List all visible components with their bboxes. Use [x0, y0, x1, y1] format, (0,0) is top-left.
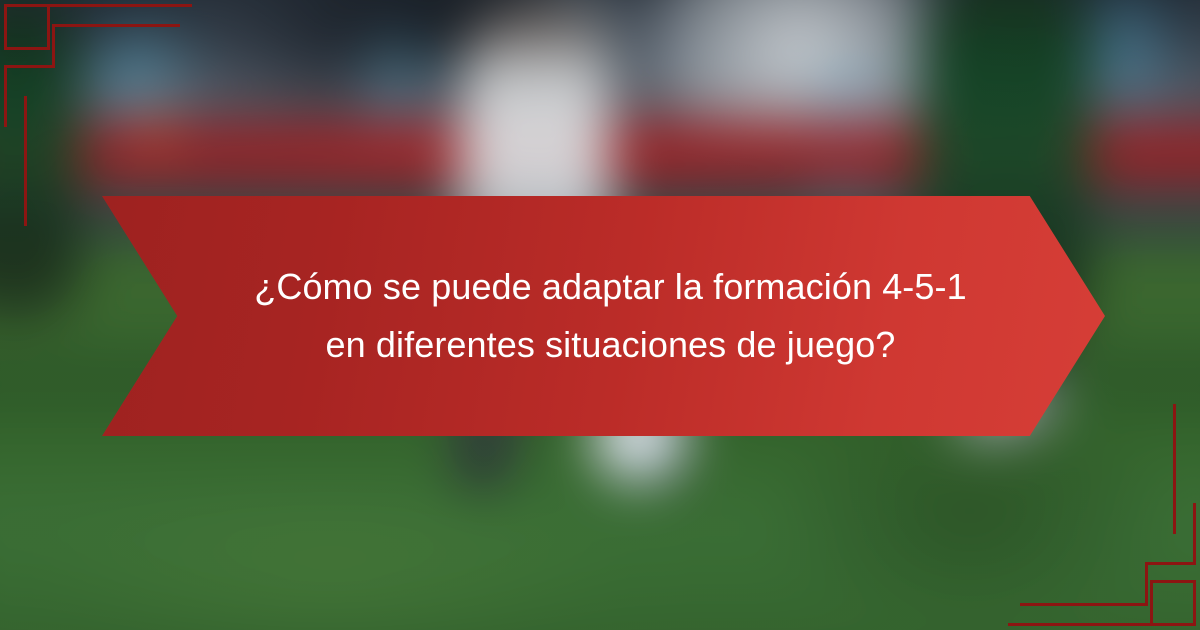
headline-line-1: ¿Cómo se puede adaptar la formación 4-5-… — [254, 266, 966, 307]
headline-line-2: en diferentes situaciones de juego? — [326, 324, 896, 365]
headline-banner: ¿Cómo se puede adaptar la formación 4-5-… — [102, 196, 1105, 436]
headline-text: ¿Cómo se puede adaptar la formación 4-5-… — [254, 258, 966, 375]
share-card: ¿Cómo se puede adaptar la formación 4-5-… — [0, 0, 1200, 630]
